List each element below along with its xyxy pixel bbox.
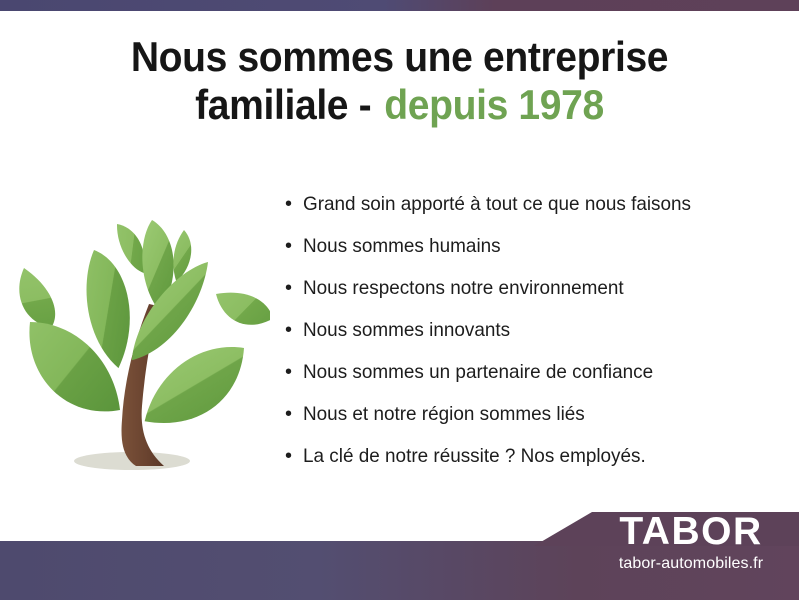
tree-illustration	[12, 182, 270, 492]
bullet-dot-icon: •	[285, 194, 303, 214]
bullet-list: • Grand soin apporté à tout ce que nous …	[285, 193, 785, 487]
bullet-dot-icon: •	[285, 446, 303, 466]
list-item-label: La clé de notre réussite ? Nos employés.	[303, 445, 646, 468]
bullet-dot-icon: •	[285, 320, 303, 340]
brand-website: tabor-automobiles.fr	[598, 555, 784, 573]
slide-canvas: Nous sommes une entreprise familiale -de…	[0, 0, 799, 600]
list-item: • Nous sommes un partenaire de confiance	[285, 361, 785, 403]
bullet-dot-icon: •	[285, 236, 303, 256]
list-item-label: Grand soin apporté à tout ce que nous fa…	[303, 193, 691, 216]
list-item: • Grand soin apporté à tout ce que nous …	[285, 193, 785, 235]
list-item-label: Nous sommes innovants	[303, 319, 510, 342]
leaf-right-horizontal	[216, 285, 270, 330]
leaf-left-horizontal	[12, 268, 70, 329]
title-accent-since-1978: depuis 1978	[384, 81, 604, 128]
tree-svg	[12, 182, 270, 492]
brand-name: TABOR	[598, 512, 784, 551]
list-item: • La clé de notre réussite ? Nos employé…	[285, 445, 785, 487]
list-item: • Nous respectons notre environnement	[285, 277, 785, 319]
brand-logo: TABOR tabor-automobiles.fr	[598, 512, 784, 573]
list-item-label: Nous respectons notre environnement	[303, 277, 624, 300]
title-line-1: Nous sommes une entreprise	[28, 33, 771, 81]
title-line-2-plain: familiale -	[195, 81, 371, 128]
page-title: Nous sommes une entreprise familiale -de…	[0, 33, 799, 129]
bullet-dot-icon: •	[285, 362, 303, 382]
list-item-label: Nous sommes humains	[303, 235, 501, 258]
list-item-label: Nous et notre région sommes liés	[303, 403, 585, 426]
list-item: • Nous sommes innovants	[285, 319, 785, 361]
title-line-2: familiale -depuis 1978	[28, 81, 771, 129]
list-item: • Nous sommes humains	[285, 235, 785, 277]
bullet-dot-icon: •	[285, 278, 303, 298]
bullet-dot-icon: •	[285, 404, 303, 424]
list-item-label: Nous sommes un partenaire de confiance	[303, 361, 653, 384]
top-accent-bar	[0, 0, 799, 11]
leaf-lower-right	[145, 341, 244, 428]
list-item: • Nous et notre région sommes liés	[285, 403, 785, 445]
